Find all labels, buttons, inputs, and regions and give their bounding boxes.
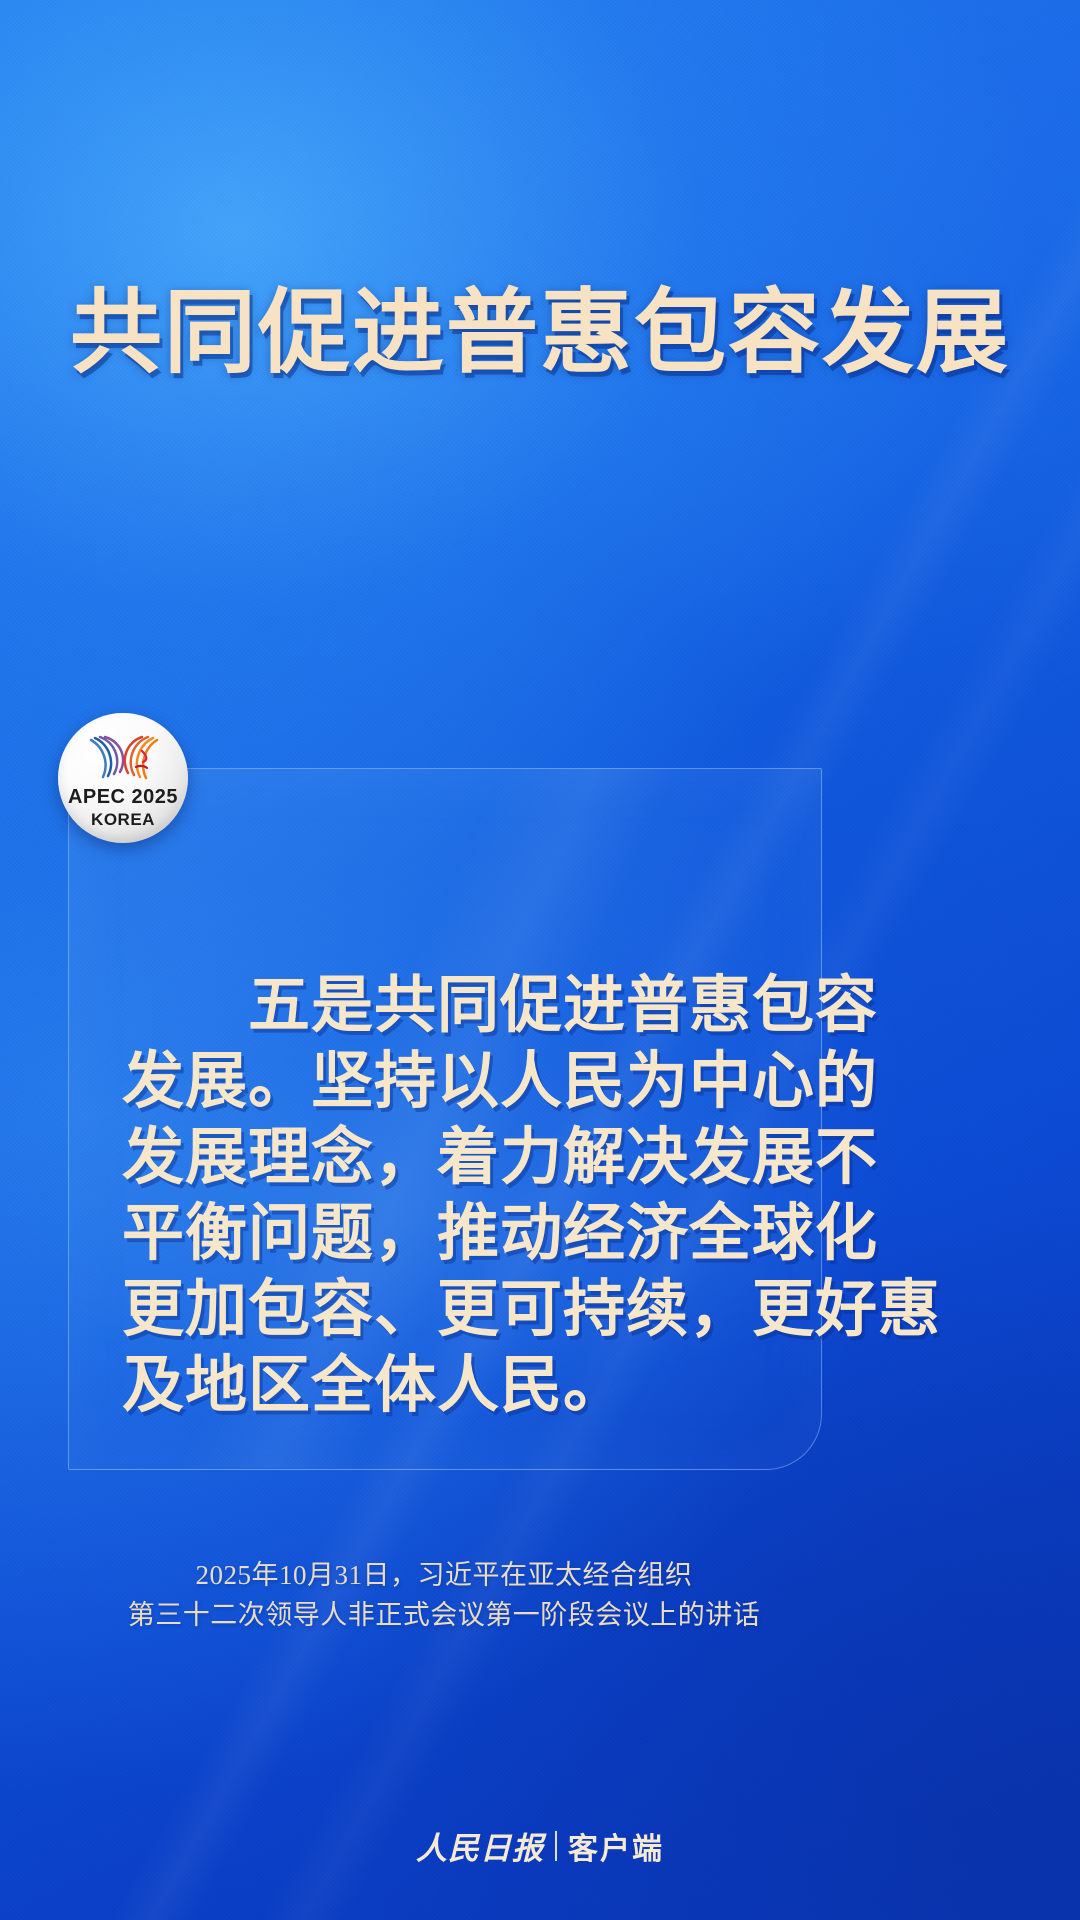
badge-title: APEC 2025: [68, 787, 178, 807]
page-title: 共同促进普惠包容发展: [0, 258, 1080, 391]
attribution-line: 第三十二次领导人非正式会议第一阶段会议上的讲话: [68, 1595, 820, 1635]
product-name: 客户端: [568, 1824, 664, 1868]
quote-body: 五是共同促进普惠包容 发展。坚持以人民为中心的 发展理念，着力解决发展不 平衡问…: [122, 968, 762, 1424]
apec-emblem-icon: [78, 730, 168, 784]
quote-line: 及地区全体人民。: [122, 1348, 762, 1424]
attribution-line: 2025年10月31日，习近平在亚太经合组织: [68, 1555, 820, 1595]
quote-line: 更加包容、更可持续，更好惠: [122, 1272, 762, 1348]
poster-root: 共同促进普惠包容发展 APEC 2025 KOREA: [0, 0, 1080, 1920]
quote-attribution: 2025年10月31日，习近平在亚太经合组织 第三十二次领导人非正式会议第一阶段…: [68, 1555, 820, 1635]
quote-line: 五是共同促进普惠包容: [122, 968, 762, 1044]
badge-subtitle: KOREA: [91, 811, 155, 828]
apec-2025-korea-badge: APEC 2025 KOREA: [58, 713, 188, 843]
brand-name: 人民日报: [416, 1823, 544, 1868]
quote-line: 发展理念，着力解决发展不: [122, 1120, 762, 1196]
wordmark-divider: [555, 1831, 557, 1861]
quote-line: 平衡问题，推动经济全球化: [122, 1196, 762, 1272]
footer-wordmark: 人民日报 客户端: [0, 1823, 1080, 1868]
quote-line: 发展。坚持以人民为中心的: [122, 1044, 762, 1120]
